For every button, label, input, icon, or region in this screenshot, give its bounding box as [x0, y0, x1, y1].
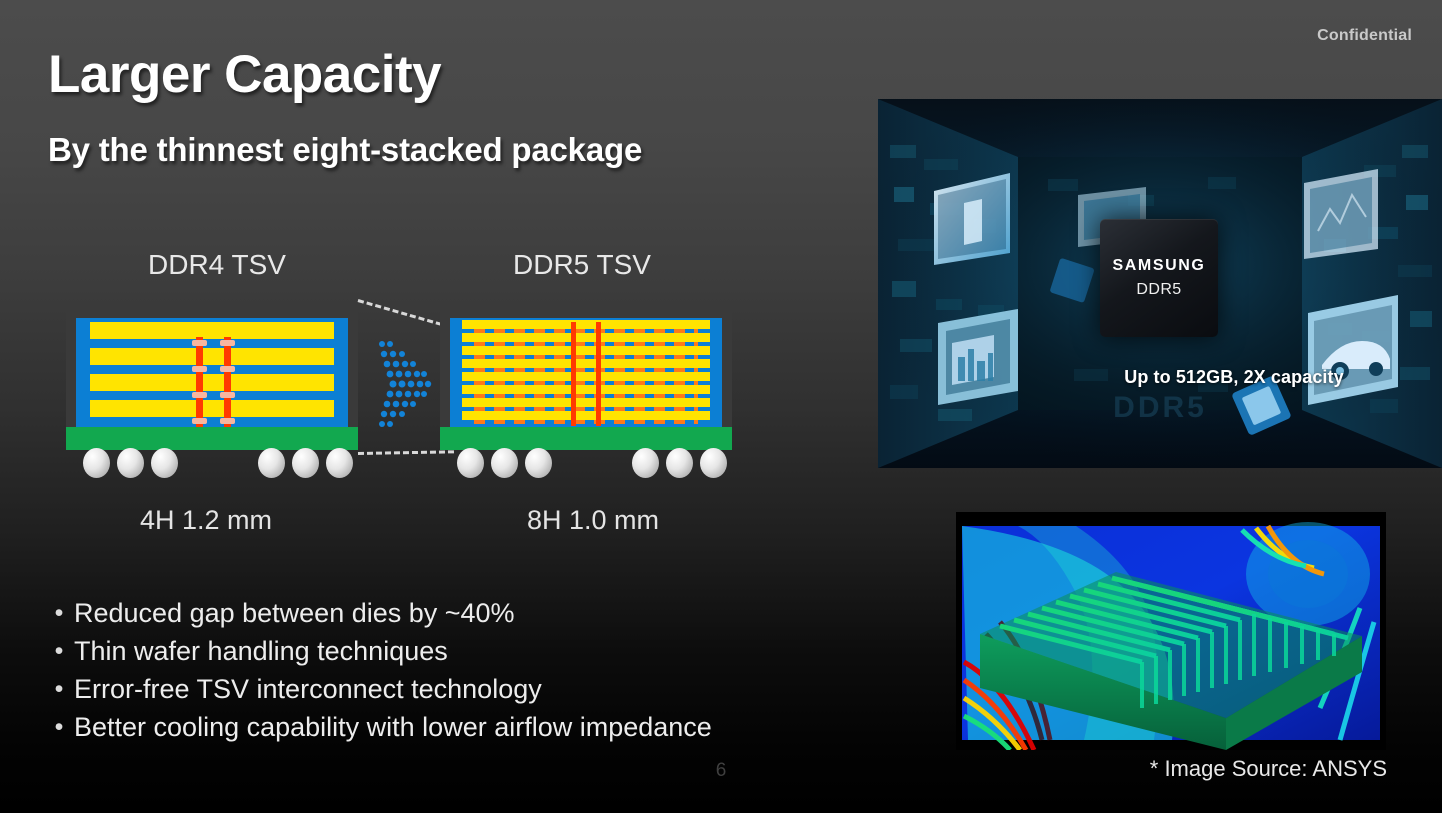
chevron-right-dotted-icon [372, 330, 436, 440]
ddr5-die-layer [462, 333, 710, 342]
ddr4-solder-ball [83, 448, 110, 478]
ddr5-die-layer [462, 359, 710, 368]
ddr5-die-layer [462, 385, 710, 394]
slide-canvas: Confidential Larger Capacity By the thin… [0, 0, 1442, 813]
ddr5-solder-ball [632, 448, 659, 478]
guide-line-top [358, 299, 451, 328]
capacity-caption: Up to 512GB, 2X capacity [1054, 367, 1414, 388]
ddr4-microbump [192, 392, 207, 398]
ddr5-tsv-column [596, 322, 601, 426]
ddr5-solder-ball [525, 448, 552, 478]
ddr5-die-layer [462, 398, 710, 407]
ddr5-bump-row [474, 394, 698, 398]
ddr5-bump-row [474, 368, 698, 372]
list-item: • Reduced gap between dies by ~40% [44, 597, 904, 630]
ddr5-pcb-substrate [440, 427, 732, 450]
ddr5-die-layer [462, 411, 710, 420]
ddr5-solder-ball [666, 448, 693, 478]
ddr5-solder-ball [700, 448, 727, 478]
ddr4-die-layer [90, 348, 334, 365]
image-source-note: * Image Source: ANSYS [1150, 756, 1387, 782]
ddr4-microbump [192, 418, 207, 424]
ddr4-microbump [220, 366, 235, 372]
ddr5-dimension-label: 8H 1.0 mm [527, 505, 659, 536]
ddr4-solder-ball [151, 448, 178, 478]
list-item-label: Better cooling capability with lower air… [74, 711, 712, 744]
ddr4-pcb-substrate [66, 427, 358, 450]
ddr5-bump-row [474, 342, 698, 346]
list-item-label: Thin wafer handling techniques [74, 635, 448, 668]
ddr4-microbump [220, 418, 235, 424]
ddr5-die-layer [462, 372, 710, 381]
ddr5-tsv-column [571, 322, 576, 426]
ddr4-tsv-column [196, 337, 203, 427]
chip-part-label: DDR5 [1136, 281, 1181, 299]
guide-line-bottom [358, 450, 454, 455]
list-item: • Error-free TSV interconnect technology [44, 673, 904, 706]
ddr4-die-layer [90, 374, 334, 391]
page-title: Larger Capacity [48, 44, 441, 105]
ddr5-solder-ball [491, 448, 518, 478]
samsung-ddr5-chip: SAMSUNG DDR5 [1100, 219, 1218, 337]
ddr5-bump-row [474, 407, 698, 411]
bullet-dot-icon: • [44, 597, 74, 630]
ddr5-die-layer [462, 320, 710, 329]
ddr5-bump-row [474, 329, 698, 333]
ddr5-die-layer [462, 346, 710, 355]
list-item: • Better cooling capability with lower a… [44, 711, 904, 744]
confidential-marking: Confidential [1317, 27, 1412, 45]
feature-bullet-list: • Reduced gap between dies by ~40% • Thi… [44, 597, 904, 749]
ddr5-solder-ball [457, 448, 484, 478]
ddr4-solder-ball [326, 448, 353, 478]
ddr4-solder-ball [117, 448, 144, 478]
ddr4-solder-ball [258, 448, 285, 478]
ddr4-dimension-label: 4H 1.2 mm [140, 505, 272, 536]
ansys-thermal-simulation-image [956, 512, 1386, 750]
chip-brand-label: SAMSUNG [1113, 257, 1206, 275]
bullet-dot-icon: • [44, 635, 74, 668]
bullet-dot-icon: • [44, 673, 74, 706]
ddr5-bump-row [474, 381, 698, 385]
ddr4-microbump [220, 392, 235, 398]
list-item-label: Reduced gap between dies by ~40% [74, 597, 515, 630]
svg-text:DDR5: DDR5 [1113, 391, 1207, 424]
bullet-dot-icon: • [44, 711, 74, 744]
ddr4-die-layer [90, 322, 334, 339]
ddr4-microbump [192, 340, 207, 346]
ddr5-diagram-title: DDR5 TSV [513, 249, 651, 281]
ddr4-solder-ball [292, 448, 319, 478]
ddr5-bump-row [474, 355, 698, 359]
ddr4-diagram-title: DDR4 TSV [148, 249, 286, 281]
list-item-label: Error-free TSV interconnect technology [74, 673, 542, 706]
ddr4-tsv-column [224, 337, 231, 427]
ddr4-die-layer [90, 400, 334, 417]
page-subtitle: By the thinnest eight-stacked package [48, 131, 642, 169]
list-item: • Thin wafer handling techniques [44, 635, 904, 668]
ddr4-microbump [220, 340, 235, 346]
ddr4-microbump [192, 366, 207, 372]
samsung-ddr5-datacenter-image: DDR5 SAMSUNG DDR5 Up to 512GB, 2X capaci… [878, 99, 1442, 468]
ddr5-bump-row [474, 420, 698, 424]
